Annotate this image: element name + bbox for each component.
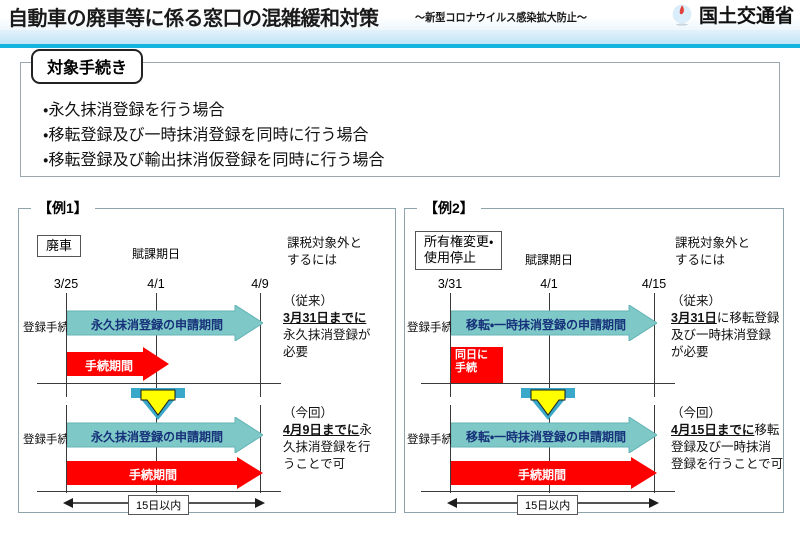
example-2-note-previous-line1: 及び一時抹消登録 — [671, 327, 779, 344]
example-2-date-end: 4/15 — [627, 277, 681, 291]
example-2-note-previous-line2: が必要 — [671, 344, 779, 361]
example-1-note-current-line1: 久抹消登録を行 — [283, 439, 372, 456]
example-1-note-current-inline: 永 — [359, 423, 372, 437]
example-1-note-current-tag: （今回） — [283, 405, 372, 422]
example-2-note-previous: （従来） 3月31日に移転登録 及び一時抹消登録 が必要 — [671, 293, 779, 361]
example-2-note-current-line2: 登録を行うことで可 — [671, 456, 783, 473]
example-2-row1-red-block: 同日に 手続 — [451, 347, 503, 383]
example-2-note-current-tag: （今回） — [671, 405, 783, 422]
example-2-row1-side-label: 登録手続 — [407, 319, 453, 335]
example-1-note-current: （今回） 4月9日までに永 久抹消登録を行 うことで可 — [283, 405, 372, 473]
page-subtitle: ～新型コロナウイルス感染拡大防止～ — [415, 9, 587, 25]
example-2-span-label: 15日以内 — [517, 495, 578, 515]
example-1-assessment-label: 賦課期日 — [116, 247, 196, 262]
header-accent-rule — [0, 44, 800, 48]
example-1-panel: 【例1】 廃車 賦課期日 3/25 4/1 4/9 登録手続 永久抹消登録の申請… — [18, 208, 396, 513]
example-1-note-previous-line1: 永久抹消登録が — [283, 327, 371, 344]
example-1-note-current-line2: うことで可 — [283, 456, 372, 473]
example-2-row2-red-arrow — [451, 457, 657, 489]
example-1-note-previous-line2: 必要 — [283, 344, 371, 361]
example-2-diagram: 所有権変更・ 使用停止 賦課期日 3/31 4/1 4/15 登録手続 移転・一… — [405, 209, 783, 512]
example-2-note-previous-inline: に移転登録 — [717, 311, 780, 325]
page-title: 自動車の廃車等に係る窓口の混雑緩和対策 — [8, 2, 379, 31]
example-1-transition-arrow — [129, 387, 187, 421]
example-2-date-start: 3/31 — [425, 277, 475, 291]
example-2-event-line1: 所有権変更・ — [424, 234, 493, 250]
example-1-event-box: 廃車 — [37, 235, 81, 257]
example-2-row1-baseline — [421, 383, 675, 384]
example-1-row1-baseline — [37, 383, 281, 384]
example-1-row1-side-label: 登録手続 — [23, 319, 69, 335]
example-1-note-previous-tag: （従来） — [283, 293, 371, 310]
example-1-diagram: 廃車 賦課期日 3/25 4/1 4/9 登録手続 永久抹消登録の申請期間 手続… — [19, 209, 395, 512]
example-2-event-box: 所有権変更・ 使用停止 — [415, 231, 502, 270]
example-1-row2-side-label: 登録手続 — [23, 431, 69, 447]
mlit-logo-icon — [670, 3, 694, 27]
example-1-row1-red-arrow — [67, 347, 169, 381]
example-1-date-start: 3/25 — [41, 277, 91, 291]
example-1-date-end: 4/9 — [235, 277, 285, 291]
example-2-row2-baseline — [421, 491, 675, 492]
ministry-branding: 国土交通省 — [670, 1, 794, 28]
example-2-note-current-date: 4月15日までに — [671, 423, 754, 437]
example-2-row2-side-label: 登録手続 — [407, 431, 453, 447]
target-procedure-item-3: ・移転登録及び輸出抹消仮登録を同時に行う場合 — [43, 146, 384, 170]
example-1-row2-red-arrow — [67, 457, 263, 489]
example-1-note-heading: 課税対象外と するには — [287, 235, 362, 269]
example-2-note-current-line1: 登録及び一時抹消 — [671, 439, 783, 456]
example-2-assessment-label: 賦課期日 — [509, 253, 589, 268]
target-procedures-box: 対象手続き ・永久抹消登録を行う場合 ・移転登録及び一時抹消登録を同時に行う場合… — [20, 62, 780, 177]
example-2-note-previous-tag: （従来） — [671, 293, 779, 310]
example-2-row1-red-line1: 同日に — [455, 349, 499, 362]
ministry-name: 国土交通省 — [699, 1, 794, 28]
example-1-note-current-date: 4月9日までに — [283, 423, 359, 437]
example-1-row1-teal-arrow — [67, 305, 263, 341]
page-header: 自動車の廃車等に係る窓口の混雑緩和対策 ～新型コロナウイルス感染拡大防止～ 国土… — [0, 0, 800, 30]
target-procedure-item-2: ・移転登録及び一時抹消登録を同時に行う場合 — [43, 121, 368, 145]
example-2-row2-teal-arrow — [451, 417, 657, 453]
example-1-row2-teal-arrow — [67, 417, 263, 453]
example-2-row1-red-line2: 手続 — [455, 362, 499, 375]
example-2-note-current: （今回） 4月15日までに移転 登録及び一時抹消 登録を行うことで可 — [671, 405, 783, 473]
example-1-span-label: 15日以内 — [128, 495, 189, 515]
example-2-note-current-inline: 移転 — [754, 423, 779, 437]
header-gradient-band — [0, 30, 800, 44]
example-2-row1-teal-arrow — [451, 305, 657, 341]
example-1-row2-baseline — [37, 491, 281, 492]
example-2-note-previous-date: 3月31日 — [671, 311, 717, 325]
example-1-date-middle: 4/1 — [131, 277, 181, 291]
example-2-event-line2: 使用停止 — [424, 250, 493, 266]
example-1-note-previous-date: 3月31日までに — [283, 311, 366, 325]
target-procedure-item-1: ・永久抹消登録を行う場合 — [43, 96, 224, 120]
example-2-date-middle: 4/1 — [524, 277, 574, 291]
example-1-note-previous: （従来） 3月31日までに 永久抹消登録が 必要 — [283, 293, 371, 361]
example-2-transition-arrow — [519, 387, 577, 421]
target-procedures-tab: 対象手続き — [31, 49, 143, 84]
example-2-note-heading: 課税対象外と するには — [675, 235, 750, 269]
example-2-panel: 【例2】 所有権変更・ 使用停止 賦課期日 3/31 4/1 4/15 登録手続… — [404, 208, 784, 513]
